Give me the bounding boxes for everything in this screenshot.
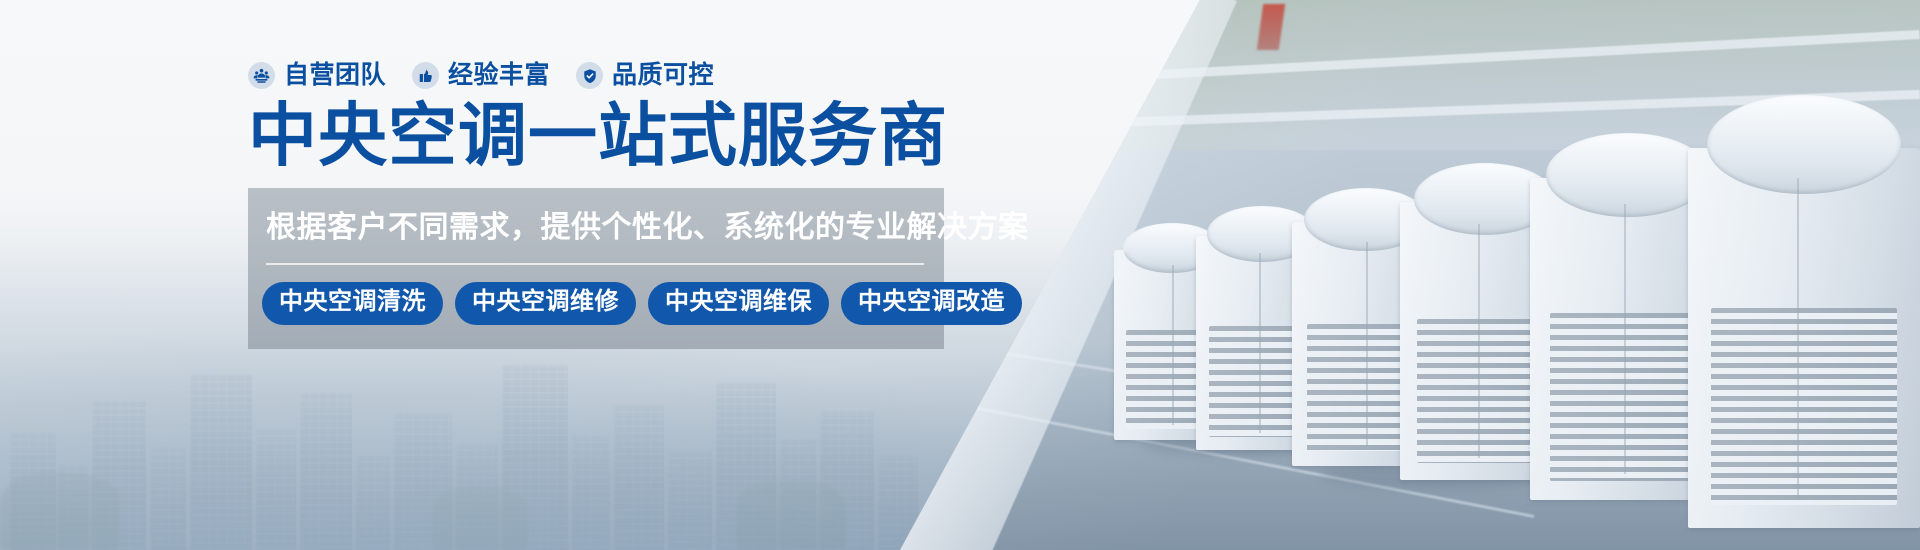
- subtitle-text: 根据客户不同需求，提供个性化、系统化的专业解决方案: [248, 210, 944, 246]
- service-pill-renovation[interactable]: 中央空调改造: [841, 282, 1022, 324]
- hero-banner: 自营团队 经验丰富 品质可控: [0, 0, 1920, 550]
- service-pill-repair[interactable]: 中央空调维修: [455, 282, 636, 324]
- service-pill-list: 中央空调清洗 中央空调维修 中央空调维保 中央空调改造: [248, 282, 944, 324]
- feature-badge-rich-experience: 经验丰富: [412, 62, 550, 89]
- service-pill-cleaning[interactable]: 中央空调清洗: [262, 282, 443, 324]
- page-title: 中央空调一站式服务商: [248, 99, 968, 172]
- description-panel: 根据客户不同需求，提供个性化、系统化的专业解决方案 中央空调清洗 中央空调维修 …: [248, 188, 944, 348]
- panel-divider: [266, 263, 924, 265]
- team-people-icon: [248, 62, 275, 89]
- feature-badge-list: 自营团队 经验丰富 品质可控: [248, 62, 968, 89]
- service-pill-maintenance[interactable]: 中央空调维保: [648, 282, 829, 324]
- feature-badge-label: 经验丰富: [448, 63, 550, 88]
- feature-badge-label: 品质可控: [612, 63, 714, 88]
- shield-check-icon: [576, 62, 603, 89]
- feature-badge-label: 自营团队: [284, 63, 386, 88]
- thumbs-up-icon: [412, 62, 439, 89]
- hvac-unit: [1688, 148, 1920, 528]
- banner-content: 自营团队 经验丰富 品质可控: [248, 62, 968, 349]
- feature-badge-quality-controllable: 品质可控: [576, 62, 714, 89]
- feature-badge-self-operated-team: 自营团队: [248, 62, 386, 89]
